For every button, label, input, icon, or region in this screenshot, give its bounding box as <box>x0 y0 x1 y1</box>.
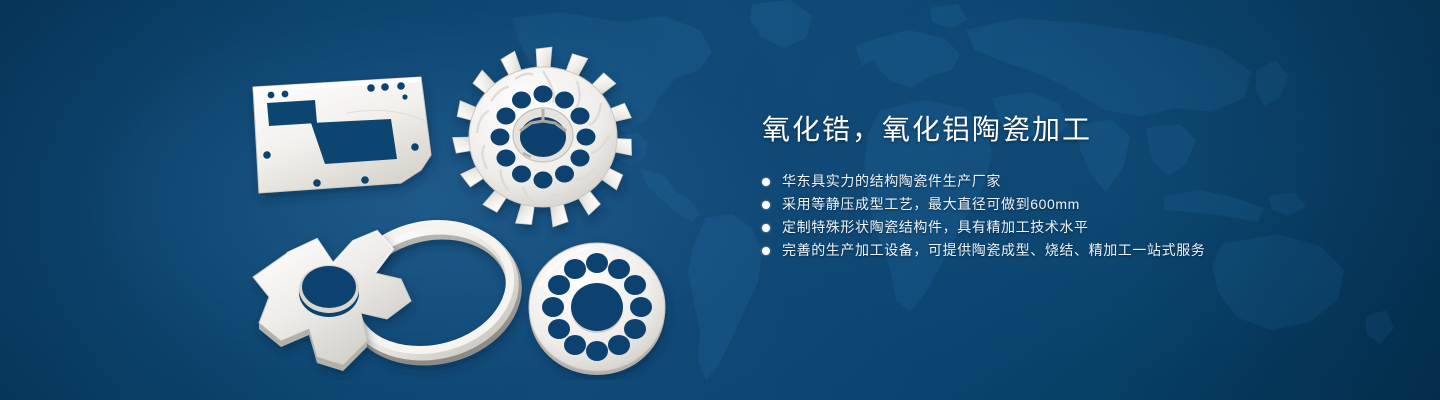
list-item-label: 完善的生产加工设备，可提供陶瓷成型、烧结、精加工一站式服务 <box>782 239 1205 262</box>
bullet-dot-icon <box>762 224 770 232</box>
list-item: 华东具实力的结构陶瓷件生产厂家 <box>762 170 1382 193</box>
list-item-label: 采用等静压成型工艺，最大直径可做到600mm <box>782 193 1080 216</box>
bullet-dot-icon <box>762 247 770 255</box>
bullet-dot-icon <box>762 178 770 186</box>
page-title: 氧化锆，氧化铝陶瓷加工 <box>762 112 1382 148</box>
list-item: 完善的生产加工设备，可提供陶瓷成型、烧结、精加工一站式服务 <box>762 239 1382 262</box>
list-item: 采用等静压成型工艺，最大直径可做到600mm <box>762 193 1382 216</box>
feature-list: 华东具实力的结构陶瓷件生产厂家 采用等静压成型工艺，最大直径可做到600mm 定… <box>762 170 1382 262</box>
ceramic-perforated-disc <box>529 243 665 375</box>
banner-copy: 氧化锆，氧化铝陶瓷加工 华东具实力的结构陶瓷件生产厂家 采用等静压成型工艺，最大… <box>762 112 1382 262</box>
ceramic-bladed-impeller <box>453 47 634 227</box>
bullet-dot-icon <box>762 201 770 209</box>
list-item-label: 华东具实力的结构陶瓷件生产厂家 <box>782 170 1001 193</box>
ceramic-products-image <box>225 35 725 380</box>
list-item: 定制特殊形状陶瓷结构件，具有精加工技术水平 <box>762 216 1382 239</box>
ceramic-plate-with-cutouts <box>253 77 431 193</box>
list-item-label: 定制特殊形状陶瓷结构件，具有精加工技术水平 <box>782 216 1089 239</box>
promo-banner: 氧化锆，氧化铝陶瓷加工 华东具实力的结构陶瓷件生产厂家 采用等静压成型工艺，最大… <box>0 0 1440 400</box>
